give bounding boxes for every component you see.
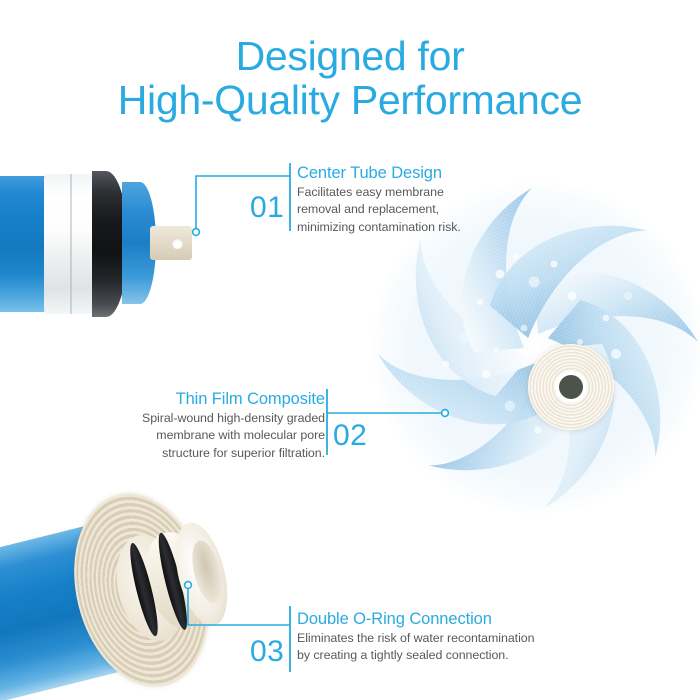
product-infographic: Designed for High-Quality Performance [0,0,700,700]
title-line-1: Designed for [0,34,700,78]
callout-03-body-line-1: Eliminates the risk of water recontamina… [297,630,534,648]
page-title: Designed for High-Quality Performance [0,34,700,123]
callout-02: Thin Film Composite Spiral-wound high-de… [120,389,325,462]
membrane-photo-o-ring-end [0,464,288,700]
callout-03-body-line-2: by creating a tightly sealed connection. [297,647,534,665]
callout-01-body: Facilitates easy membrane removal and re… [297,184,461,237]
callout-number-02: 02 [333,421,367,451]
callout-02-body-line-1: Spiral-wound high-density graded [120,410,325,428]
callout-01-body-line-2: removal and replacement, [297,201,461,219]
callout-01-body-line-3: minimizing contamination risk. [297,219,461,237]
callout-03: Double O-Ring Connection Eliminates the … [297,609,534,665]
membrane-hub [528,344,614,430]
callout-number-01: 01 [250,193,284,223]
callout-03-body: Eliminates the risk of water recontamina… [297,630,534,665]
membrane-photo-center-tube [0,168,226,318]
callout-number-03: 03 [250,637,284,667]
callout-02-body: Spiral-wound high-density graded membran… [120,410,325,463]
center-tube-tab [150,226,192,260]
callout-03-heading: Double O-Ring Connection [297,609,534,630]
title-line-2: High-Quality Performance [0,78,700,122]
callout-01-body-line-1: Facilitates easy membrane [297,184,461,202]
callout-02-heading: Thin Film Composite [120,389,325,410]
callout-01: Center Tube Design Facilitates easy memb… [297,163,461,236]
callout-02-body-line-2: membrane with molecular pore [120,427,325,445]
callout-02-body-line-3: structure for superior filtration. [120,445,325,463]
callout-01-heading: Center Tube Design [297,163,461,184]
